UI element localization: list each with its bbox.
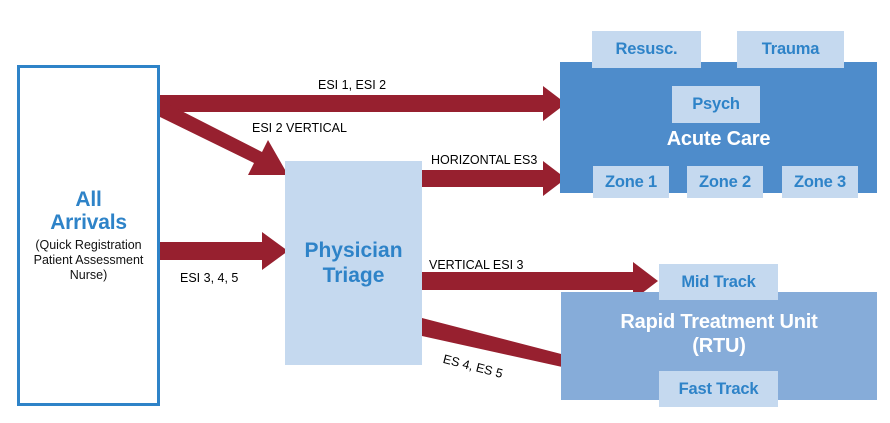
chip-trauma-label: Trauma bbox=[762, 40, 820, 59]
flow-label-horizontal-es3-text: HORIZONTAL ES3 bbox=[431, 153, 537, 167]
rapid-treatment-unit-title: Rapid Treatment Unit (RTU) bbox=[561, 310, 877, 358]
chip-trauma: Trauma bbox=[737, 31, 844, 68]
chip-zone-3: Zone 3 bbox=[782, 166, 858, 198]
all-arrivals-sub-line2: Patient Assessment bbox=[34, 253, 144, 268]
chip-mid-track-label: Mid Track bbox=[681, 273, 755, 292]
arrow-esi345 bbox=[160, 232, 288, 270]
all-arrivals-title-line1: All bbox=[50, 188, 127, 211]
flow-label-horizontal-es3: HORIZONTAL ES3 bbox=[431, 153, 537, 167]
physician-triage-label: Physician Triage bbox=[304, 238, 402, 288]
all-arrivals-title: All Arrivals bbox=[50, 188, 127, 234]
flow-label-esi2-vertical-text: ESI 2 VERTICAL bbox=[252, 121, 347, 135]
chip-zone-2: Zone 2 bbox=[687, 166, 763, 198]
all-arrivals-box: All Arrivals (Quick Registration Patient… bbox=[17, 65, 160, 406]
chip-zone-1: Zone 1 bbox=[593, 166, 669, 198]
flow-label-esi12-text: ESI 1, ESI 2 bbox=[318, 78, 386, 92]
chip-zone-3-label: Zone 3 bbox=[794, 173, 846, 192]
rtu-title-line2: (RTU) bbox=[561, 334, 877, 358]
chip-psych-label: Psych bbox=[692, 95, 740, 114]
all-arrivals-sub-line1: (Quick Registration bbox=[34, 238, 144, 253]
chip-zone-1-label: Zone 1 bbox=[605, 173, 657, 192]
chip-resusc: Resusc. bbox=[592, 31, 701, 68]
chip-fast-track-label: Fast Track bbox=[679, 380, 759, 399]
rtu-title-line1: Rapid Treatment Unit bbox=[561, 310, 877, 334]
diagram-canvas: All Arrivals (Quick Registration Patient… bbox=[0, 0, 890, 423]
chip-fast-track: Fast Track bbox=[659, 371, 778, 407]
flow-label-esi2-vertical: ESI 2 VERTICAL bbox=[252, 121, 347, 135]
physician-triage-label-line1: Physician bbox=[304, 238, 402, 263]
chip-zone-2-label: Zone 2 bbox=[699, 173, 751, 192]
chip-resusc-label: Resusc. bbox=[616, 40, 678, 59]
all-arrivals-title-line2: Arrivals bbox=[50, 211, 127, 234]
flow-label-esi345: ESI 3, 4, 5 bbox=[180, 271, 238, 285]
flow-label-esi12: ESI 1, ESI 2 bbox=[318, 78, 386, 92]
flow-label-esi345-text: ESI 3, 4, 5 bbox=[180, 271, 238, 285]
acute-care-title: Acute Care bbox=[560, 128, 877, 151]
flow-label-vertical-esi3-text: VERTICAL ESI 3 bbox=[429, 258, 523, 272]
physician-triage-label-line2: Triage bbox=[304, 263, 402, 288]
chip-mid-track: Mid Track bbox=[659, 264, 778, 300]
all-arrivals-subtitle: (Quick Registration Patient Assessment N… bbox=[34, 238, 144, 283]
all-arrivals-sub-line3: Nurse) bbox=[34, 268, 144, 283]
physician-triage-box: Physician Triage bbox=[285, 161, 422, 365]
chip-psych: Psych bbox=[672, 86, 760, 123]
flow-label-vertical-esi3: VERTICAL ESI 3 bbox=[429, 258, 523, 272]
